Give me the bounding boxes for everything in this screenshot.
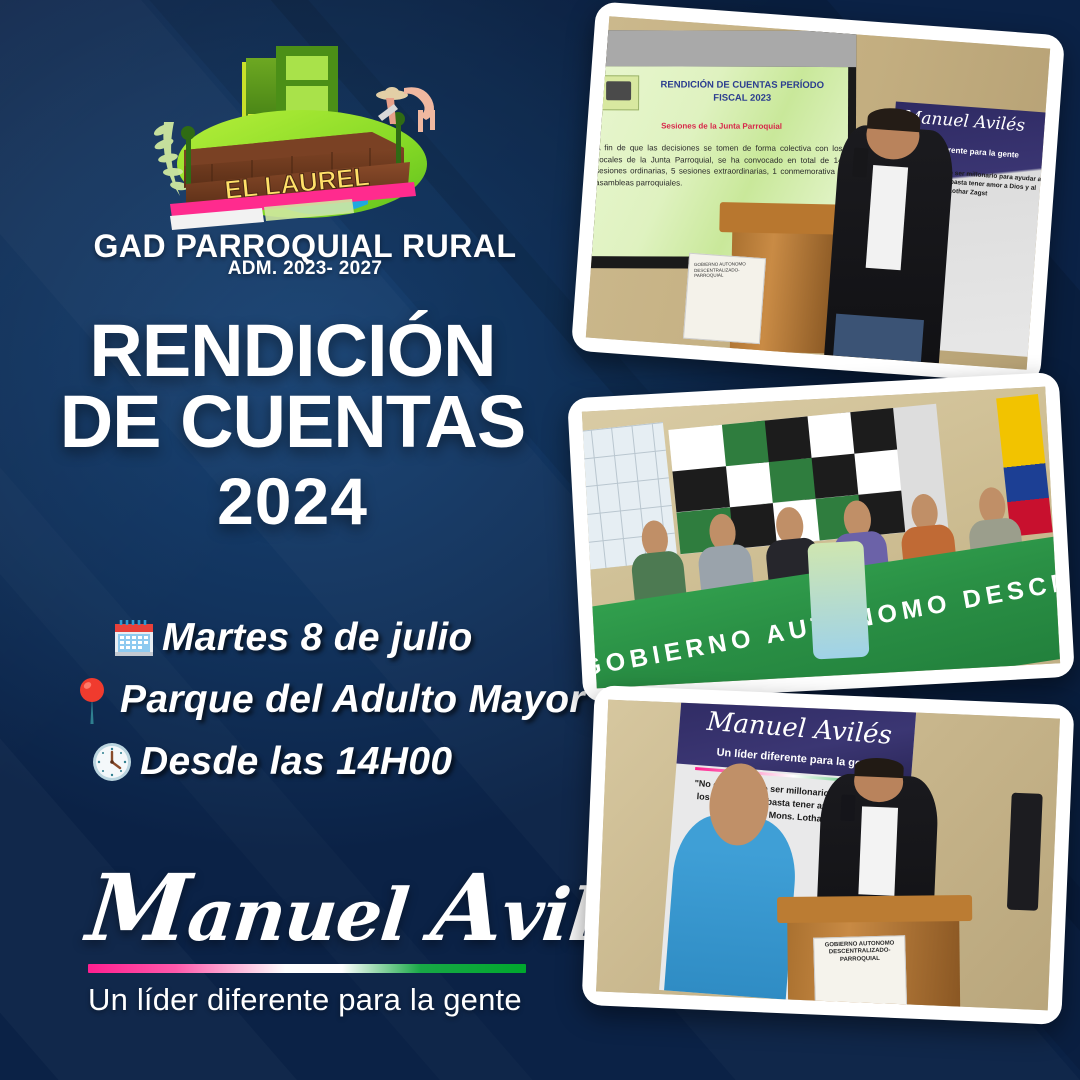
photo3-speaker-shirt bbox=[858, 807, 898, 896]
detail-text-time: Desde las 14H00 bbox=[140, 740, 452, 784]
title-line-2: DE CUENTAS bbox=[0, 386, 585, 457]
signature-name: Manuel Avilés bbox=[83, 862, 533, 954]
signature-block: Manuel Avilés Un líder diferente para la… bbox=[88, 862, 528, 1018]
page-title: RENDICIÓN DE CUENTAS bbox=[0, 315, 585, 457]
map-pin-icon bbox=[64, 674, 120, 726]
detail-row-time: Desde las 14H00 bbox=[60, 731, 580, 793]
org-term: ADM. 2023- 2027 bbox=[0, 258, 610, 280]
logo-graphic: EL LAUREL bbox=[142, 40, 462, 240]
detail-text-date: Martes 8 de julio bbox=[162, 616, 473, 660]
detail-text-place: Parque del Adulto Mayor bbox=[120, 678, 585, 722]
detail-row-place: Parque del Adulto Mayor bbox=[60, 669, 580, 731]
photo1-speaker-shirt bbox=[866, 165, 909, 270]
clock-icon bbox=[84, 739, 140, 785]
photo3-loudspeaker bbox=[1007, 793, 1043, 911]
photo3-microphone bbox=[841, 794, 856, 821]
signature-gradient-bar bbox=[88, 964, 526, 973]
el-laurel-logo: EL LAUREL bbox=[142, 40, 462, 240]
photo1-microphone bbox=[852, 147, 868, 177]
event-details: Martes 8 de julio Parque del Adulto Mayo… bbox=[60, 607, 580, 793]
photo2-crest bbox=[807, 541, 869, 660]
photo1-screen-housing bbox=[586, 31, 857, 68]
photo-panel-table: GOBIERNO AUTONOMO DESCENTRA bbox=[567, 372, 1075, 703]
photo1-podium-sign: GOBIERNO AUTONOMO DESCENTRALIZADO- PARRO… bbox=[683, 253, 766, 344]
detail-row-date: Martes 8 de julio bbox=[60, 607, 580, 669]
signature-first-rest: anuel bbox=[184, 872, 412, 957]
signature-tagline: Un líder diferente para la gente bbox=[88, 982, 528, 1018]
photo1-slide-subtitle: Sesiones de la Junta Parroquial bbox=[616, 122, 827, 132]
photo-inner: Manuel Avilés Un líder diferente para la… bbox=[586, 16, 1050, 370]
photo1-podium-sign-text: GOBIERNO AUTONOMO DESCENTRALIZADO- PARRO… bbox=[694, 261, 760, 279]
photo-presentation-slide: Manuel Avilés Un líder diferente para la… bbox=[571, 1, 1065, 384]
photo-inner: GOBIERNO AUTONOMO DESCENTRA bbox=[582, 387, 1060, 689]
photo1-slide-title: RENDICIÓN DE CUENTAS PERÍODO FISCAL 2023 bbox=[647, 80, 838, 106]
title-year: 2024 bbox=[0, 463, 585, 539]
photo1-slide-logo bbox=[598, 76, 639, 111]
photo3-podium-sign: GOBIERNO AUTONOMO DESCENTRALIZADO- PARRO… bbox=[813, 935, 907, 1010]
photo3-podium-sign-text: GOBIERNO AUTONOMO DESCENTRALIZADO- PARRO… bbox=[820, 940, 900, 965]
photo1-speaker-jeans bbox=[833, 314, 924, 362]
photo-inner: Manuel Avilés Un líder diferente para la… bbox=[596, 700, 1060, 1011]
photo1-slide-body: A fin de que las decisiones se tomen de … bbox=[595, 143, 842, 190]
calendar-icon bbox=[106, 615, 162, 661]
signature-first-initial: M bbox=[82, 854, 194, 962]
poster-canvas: EL LAUREL GAD PARROQUIAL RURAL ADM. 2023… bbox=[0, 0, 1080, 1080]
signature-last-initial: A bbox=[427, 854, 509, 962]
photo-speaker-podium: Manuel Avilés Un líder diferente para la… bbox=[582, 685, 1075, 1025]
